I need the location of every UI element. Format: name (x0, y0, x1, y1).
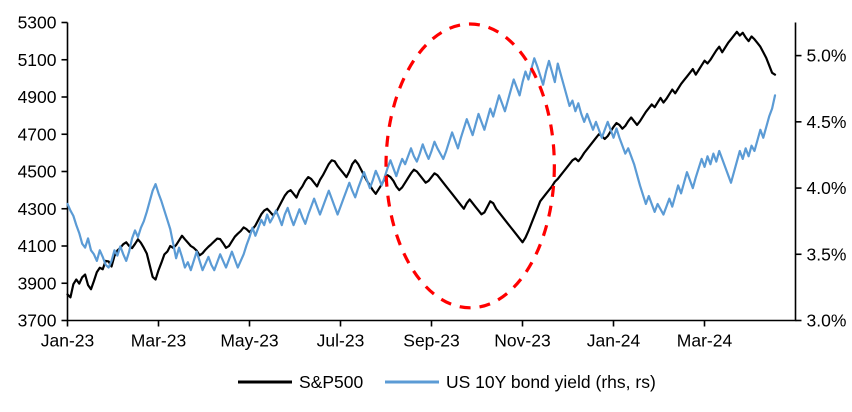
x-tick-label: Mar-23 (131, 331, 186, 351)
y-right-tick-label: 4.5% (807, 112, 847, 132)
y-left-tick-label: 5100 (18, 50, 57, 70)
legend-item-us10y: US 10Y bond yield (rhs, rs) (385, 372, 656, 392)
y-left-tick-label: 4100 (18, 236, 57, 256)
chart-svg: 3700390041004300450047004900510053003.0%… (0, 0, 852, 412)
plot-area: 3700390041004300450047004900510053003.0%… (18, 13, 847, 393)
y-right-tick-label: 5.0% (807, 46, 847, 66)
series-line-us10y (68, 58, 776, 270)
y-left-tick-label: 3700 (18, 311, 57, 331)
y-left-tick-label: 4900 (18, 87, 57, 107)
x-tick-label: Nov-23 (494, 331, 550, 351)
y-left-tick-label: 4300 (18, 199, 57, 219)
x-tick-label: Mar-24 (677, 331, 733, 351)
legend-item-sp500: S&P500 (238, 372, 363, 392)
legend-label-us10y: US 10Y bond yield (rhs, rs) (446, 372, 656, 392)
y-left-tick-label: 4500 (18, 162, 57, 182)
y-left-tick-label: 4700 (18, 124, 57, 144)
x-tick-label: Sep-23 (403, 331, 459, 351)
x-tick-label: Jan-24 (587, 331, 641, 351)
y-left-tick-label: 3900 (18, 273, 57, 293)
y-right-tick-label: 4.0% (807, 178, 847, 198)
legend-label-sp500: S&P500 (299, 372, 363, 392)
y-right-tick-label: 3.5% (807, 244, 847, 264)
x-tick-label: Jan-23 (41, 331, 95, 351)
x-tick-label: May-23 (220, 331, 278, 351)
series-line-sp500 (68, 32, 776, 298)
highlight-ellipse-annotation (386, 24, 554, 308)
y-right-tick-label: 3.0% (807, 311, 847, 331)
x-tick-label: Jul-23 (317, 331, 365, 351)
y-left-tick-label: 5300 (18, 13, 57, 33)
chart-container: 3700390041004300450047004900510053003.0%… (0, 0, 852, 412)
